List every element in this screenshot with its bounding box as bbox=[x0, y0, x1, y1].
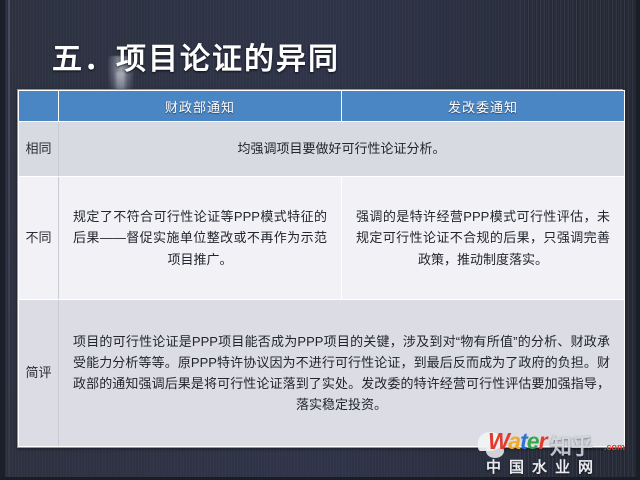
background-accent-line bbox=[8, 0, 10, 480]
table-header-corner bbox=[19, 91, 59, 122]
table-row: 相同 均强调项目要做好可行性论证分析。 bbox=[19, 122, 625, 177]
table-header-row: 财政部通知 发改委通知 bbox=[19, 91, 625, 122]
row-content-different-finance: 规定了不符合可行性论证等PPP模式特征的后果——督促实施单位整改或不再作为示范项… bbox=[59, 177, 342, 300]
table-row: 简评 项目的可行性论证是PPP项目能否成为PPP项目的关键，涉及到对“物有所值”… bbox=[19, 300, 625, 447]
row-content-comment: 项目的可行性论证是PPP项目能否成为PPP项目的关键，涉及到对“物有所值”的分析… bbox=[59, 300, 625, 447]
table-row: 不同 规定了不符合可行性论证等PPP模式特征的后果——督促实施单位整改或不再作为… bbox=[19, 177, 625, 300]
table-header-ndrc: 发改委通知 bbox=[342, 91, 625, 122]
presentation-slide: 五．项目论证的异同 财政部通知 发改委通知 相同 均强调项目要做好可行性论证分析… bbox=[0, 0, 640, 480]
row-content-different-ndrc: 强调的是特许经营PPP模式可行性评估，未规定可行性论证不合规的后果，只强调完善政… bbox=[342, 177, 625, 300]
table-header-finance-ministry: 财政部通知 bbox=[59, 91, 342, 122]
slide-edge-right bbox=[636, 0, 640, 480]
row-label-same: 相同 bbox=[19, 122, 59, 177]
row-label-comment: 简评 bbox=[19, 300, 59, 447]
row-content-same: 均强调项目要做好可行性论证分析。 bbox=[59, 122, 625, 177]
row-label-different: 不同 bbox=[19, 177, 59, 300]
comparison-table: 财政部通知 发改委通知 相同 均强调项目要做好可行性论证分析。 不同 规定了不符… bbox=[17, 89, 623, 448]
slide-edge-left bbox=[0, 0, 5, 480]
slide-title: 五．项目论证的异同 bbox=[52, 34, 340, 78]
